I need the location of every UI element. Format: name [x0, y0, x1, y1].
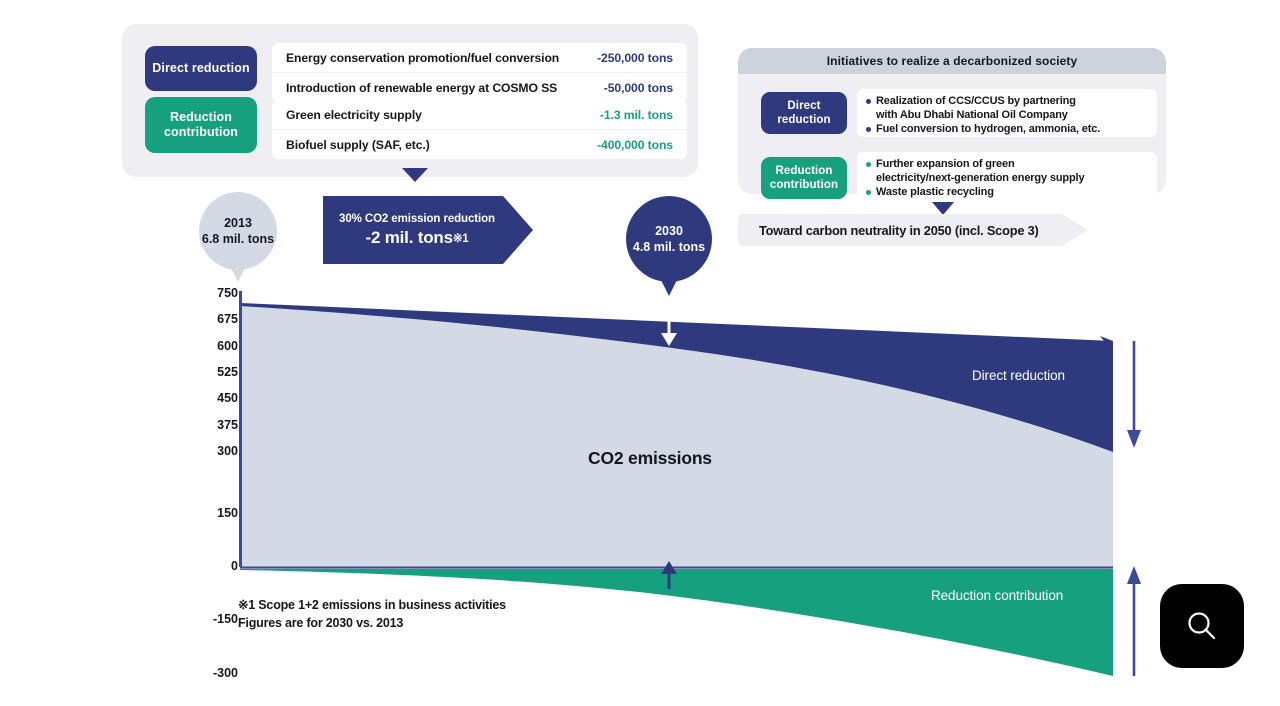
y-tick-150: 150 [190, 506, 238, 520]
right-up-arrow-icon [1127, 566, 1141, 676]
measure-row[interactable]: Energy conservation promotion/fuel conve… [272, 43, 687, 72]
y-tick-450: 450 [190, 391, 238, 405]
measure-row[interactable]: Introduction of renewable energy at COSM… [272, 73, 687, 102]
infographic-root: 750 675 600 525 450 375 300 150 0 -150 -… [0, 0, 1280, 706]
emission-reduction-amount: -2 mil. tons [366, 228, 453, 247]
bullet-item: Further expansion of green electricity/n… [866, 158, 1148, 186]
emission-reduction-headline: -2 mil. tons※1 [366, 228, 469, 248]
bubble-2030: 2030 4.8 mil. tons [626, 196, 712, 282]
measure-label: Energy conservation promotion/fuel conve… [286, 51, 597, 65]
bullet-text: Fuel conversion to hydrogen, ammonia, et… [876, 123, 1100, 137]
bullet-dot-icon [866, 162, 871, 167]
y-tick-675: 675 [190, 312, 238, 326]
measure-row[interactable]: Biofuel supply (SAF, etc.) -400,000 tons [272, 130, 687, 159]
bullet-dot-icon [866, 127, 871, 132]
bullet-dot-icon [866, 190, 871, 195]
bubble-2030-pointer-icon [659, 276, 679, 296]
category-chip-direct-reduction[interactable]: Direct reduction [145, 46, 257, 91]
y-tick-375: 375 [190, 418, 238, 432]
triangle-down-icon [932, 202, 954, 215]
category-chip-reduction-contribution-label: Reduction contribution [164, 110, 238, 141]
bullet-item: Realization of CCS/CCUS by partnering wi… [866, 95, 1148, 123]
right-down-arrow-icon [1127, 341, 1141, 448]
bullet-item: Waste plastic recycling [866, 186, 1148, 200]
bullet-text: Waste plastic recycling [876, 186, 994, 200]
category-chip-reduction-contribution[interactable]: Reduction contribution [145, 97, 257, 153]
initiatives-list-reduction-contribution: Further expansion of green electricity/n… [857, 152, 1157, 202]
carbon-neutrality-banner-label: Toward carbon neutrality in 2050 (incl. … [759, 223, 1039, 238]
bullet-text: Further expansion of green electricity/n… [876, 158, 1084, 186]
footnote-line-1: ※1 Scope 1+2 emissions in business activ… [238, 596, 506, 614]
y-tick-neg300: -300 [190, 666, 238, 680]
measure-value: -50,000 tons [604, 81, 673, 95]
bubble-2013-pointer-icon [229, 264, 247, 282]
emission-reduction-footnote-marker: ※1 [453, 233, 469, 245]
initiatives-chip-reduction-contribution[interactable]: Reduction contribution [761, 157, 847, 199]
y-tick-750: 750 [190, 286, 238, 300]
y-tick-300: 300 [190, 444, 238, 458]
category-chip-direct-reduction-label: Direct reduction [152, 61, 249, 76]
bullet-text: Realization of CCS/CCUS by partnering wi… [876, 95, 1076, 123]
white-down-arrow-icon [661, 313, 677, 346]
measure-label: Green electricity supply [286, 108, 600, 122]
y-tick-600: 600 [190, 339, 238, 353]
bubble-2013: 2013 6.8 mil. tons [199, 192, 277, 270]
emission-reduction-subtitle: 30% CO2 emission reduction [339, 213, 495, 225]
band-label-reduction-contribution: Reduction contribution [931, 588, 1063, 603]
initiatives-list-direct-reduction: Realization of CCS/CCUS by partnering wi… [857, 89, 1157, 137]
y-tick-525: 525 [190, 365, 238, 379]
co2-emissions-area [240, 306, 1113, 566]
bubble-2030-year: 2030 [655, 223, 683, 239]
carbon-neutrality-banner: Toward carbon neutrality in 2050 (incl. … [738, 214, 1088, 246]
bubble-2013-value: 6.8 mil. tons [202, 231, 274, 247]
emission-reduction-banner: 30% CO2 emission reduction -2 mil. tons※… [323, 196, 533, 264]
measure-value: -1.3 mil. tons [600, 108, 673, 122]
footnote: ※1 Scope 1+2 emissions in business activ… [238, 596, 506, 632]
triangle-down-icon [402, 168, 428, 182]
measure-label: Introduction of renewable energy at COSM… [286, 81, 604, 95]
band-label-direct-reduction: Direct reduction [972, 368, 1065, 383]
initiatives-chip-direct-reduction[interactable]: Direct reduction [761, 92, 847, 134]
bubble-2013-year: 2013 [224, 215, 252, 231]
measure-label: Biofuel supply (SAF, etc.) [286, 138, 597, 152]
measure-row[interactable]: Green electricity supply -1.3 mil. tons [272, 100, 687, 129]
bullet-dot-icon [866, 99, 871, 104]
initiatives-chip-direct-reduction-label: Direct reduction [777, 99, 830, 127]
search-icon [1183, 607, 1221, 645]
measure-value: -400,000 tons [597, 138, 673, 152]
y-tick-0: 0 [190, 559, 238, 573]
search-button[interactable] [1160, 584, 1244, 668]
chart-title: CO2 emissions [588, 448, 712, 469]
footnote-line-2: Figures are for 2030 vs. 2013 [238, 614, 506, 632]
initiatives-panel-header: Initiatives to realize a decarbonized so… [738, 48, 1166, 74]
bullet-item: Fuel conversion to hydrogen, ammonia, et… [866, 123, 1148, 137]
navy-up-arrow-icon [661, 561, 677, 589]
bubble-2030-value: 4.8 mil. tons [633, 239, 705, 255]
y-tick-neg150: -150 [190, 612, 238, 626]
initiatives-chip-reduction-contribution-label: Reduction contribution [770, 164, 838, 192]
measure-value: -250,000 tons [597, 51, 673, 65]
initiatives-panel-header-label: Initiatives to realize a decarbonized so… [827, 54, 1078, 68]
